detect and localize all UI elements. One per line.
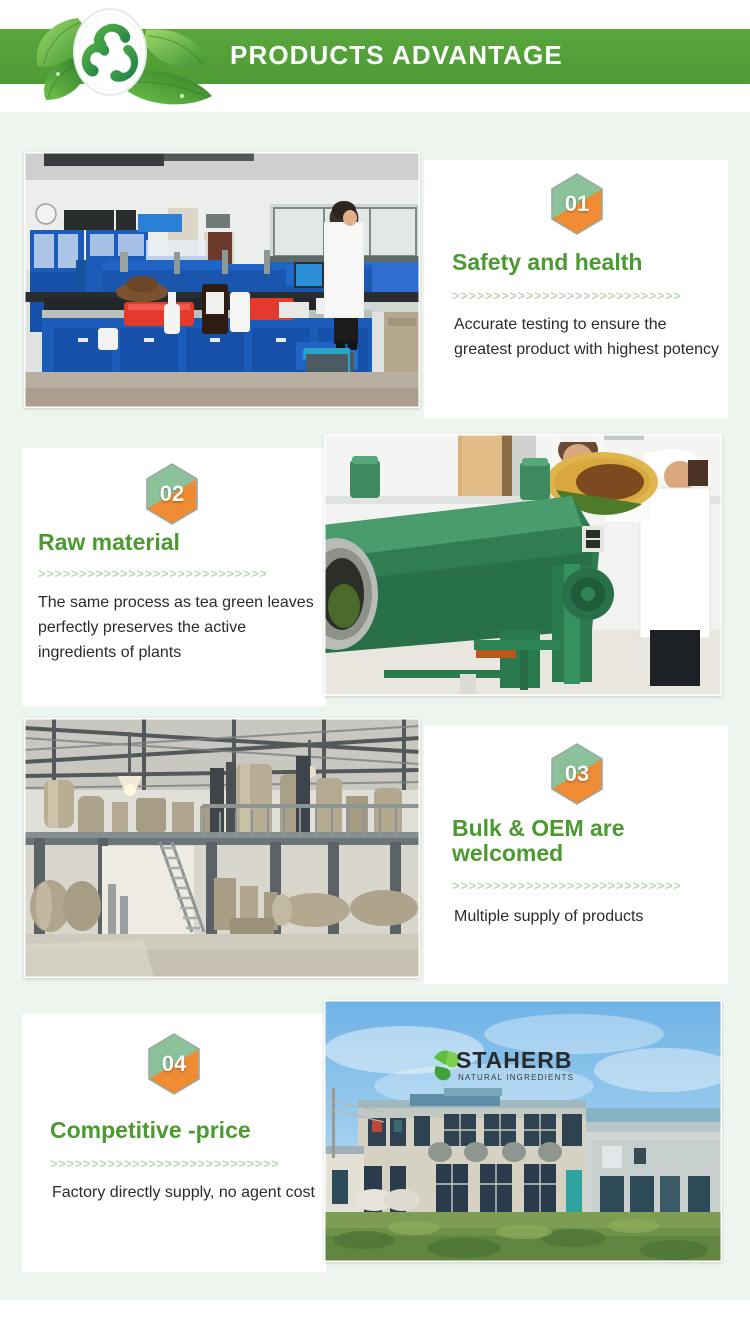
advantage-description-02: The same process as tea green leaves per… [38, 590, 316, 665]
chevron-divider-02: >>>>>>>>>>>>>>>>>>>>>>>>>>>> [38, 566, 300, 581]
svg-text:STAHERB: STAHERB [456, 1047, 572, 1073]
advantage-title-02: Raw material [38, 530, 308, 555]
chevron-divider-04: >>>>>>>>>>>>>>>>>>>>>>>>>>>> [50, 1156, 312, 1171]
advantage-title-03: Bulk & OEM are welcomed [452, 816, 678, 866]
tea-roasting-machine-photo [324, 434, 722, 696]
badge-hexagon-03: 03 [549, 742, 605, 806]
badge-number-02: 02 [144, 462, 200, 526]
chevron-divider-03: >>>>>>>>>>>>>>>>>>>>>>>>>>>> [452, 878, 714, 893]
advantage-content-01: 01 Safety and health >>>>>>>>>>>>>>>>>>>… [424, 160, 728, 418]
svg-text:NATURAL INGREDIENTS: NATURAL INGREDIENTS [458, 1073, 574, 1082]
bottom-white-strip [0, 1300, 750, 1326]
advantage-title-04: Competitive -price [50, 1118, 322, 1143]
advantage-description-03: Multiple supply of products [454, 904, 714, 929]
badge-number-03: 03 [549, 742, 605, 806]
advantage-content-03: 03 Bulk & OEM are welcomed >>>>>>>>>>>>>… [424, 726, 728, 984]
badge-number-04: 04 [146, 1032, 202, 1096]
laboratory-photo [24, 152, 420, 408]
page-title: PRODUCTS ADVANTAGE [230, 40, 563, 71]
leaf-circle-logo [30, 0, 230, 112]
badge-hexagon-01: 01 [549, 172, 605, 236]
advantage-content-04: 04 Competitive -price >>>>>>>>>>>>>>>>>>… [22, 1014, 326, 1272]
extraction-plant-photo [24, 718, 420, 978]
advantage-title-01: Safety and health [452, 250, 712, 275]
chevron-divider-01: >>>>>>>>>>>>>>>>>>>>>>>>>>>> [452, 288, 714, 303]
advantage-description-01: Accurate testing to ensure the greatest … [454, 312, 720, 362]
badge-number-01: 01 [549, 172, 605, 236]
page-header: PRODUCTS ADVANTAGE [0, 0, 750, 112]
advantage-content-02: 02 Raw material >>>>>>>>>>>>>>>>>>>>>>>>… [22, 448, 326, 706]
factory-building-photo: STAHERB NATURAL INGREDIENTS [324, 1000, 722, 1262]
badge-hexagon-04: 04 [146, 1032, 202, 1096]
advantage-description-04: Factory directly supply, no agent cost [52, 1180, 316, 1205]
products-advantage-page: PRODUCTS ADVANTAGE [0, 0, 750, 1326]
badge-hexagon-02: 02 [144, 462, 200, 526]
